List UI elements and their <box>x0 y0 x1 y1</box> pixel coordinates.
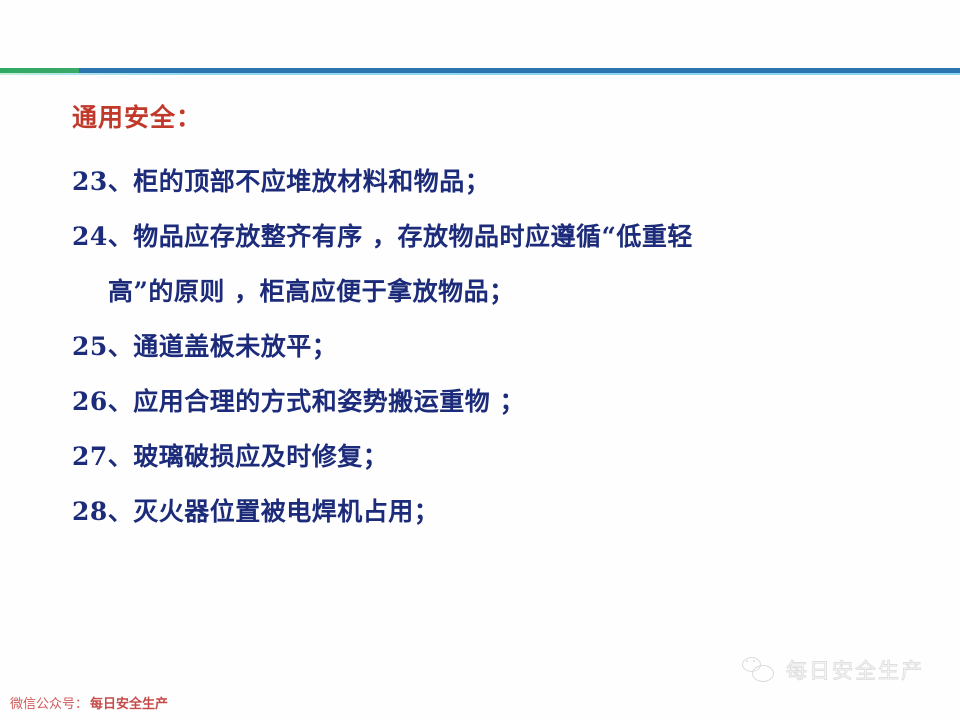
watermark-label: 每日安全生产 <box>786 655 924 685</box>
divider-hairline <box>0 73 960 75</box>
header-divider <box>0 68 960 77</box>
slide-content: 通用安全： 23、柜的顶部不应堆放材料和物品； 24、物品应存放整齐有序 ，存放… <box>0 96 960 539</box>
watermark: 每日安全生产 <box>742 655 924 685</box>
footer-account-name: 每日安全生产 <box>90 693 168 712</box>
footer-label: 微信公众号： <box>10 693 88 712</box>
list-item-continuation: 高”的原则 ，柜高应便于拿放物品； <box>0 264 960 319</box>
list-item: 28、灭火器位置被电焊机占用； <box>0 484 960 539</box>
list-item: 25、通道盖板未放平； <box>0 319 960 374</box>
list-item: 27、玻璃破损应及时修复； <box>0 429 960 484</box>
safety-rules-list: 23、柜的顶部不应堆放材料和物品； 24、物品应存放整齐有序 ，存放物品时应遵循… <box>0 154 960 539</box>
slide-canvas: 通用安全： 23、柜的顶部不应堆放材料和物品； 24、物品应存放整齐有序 ，存放… <box>0 0 960 720</box>
footer-credit: 微信公众号： 每日安全生产 <box>10 693 168 712</box>
list-item: 26、应用合理的方式和姿势搬运重物 ； <box>0 374 960 429</box>
wechat-logo-icon <box>742 656 776 684</box>
page-title: 通用安全： <box>0 96 960 140</box>
list-item: 24、物品应存放整齐有序 ，存放物品时应遵循“低重轻 <box>0 209 960 264</box>
list-item: 23、柜的顶部不应堆放材料和物品； <box>0 154 960 209</box>
